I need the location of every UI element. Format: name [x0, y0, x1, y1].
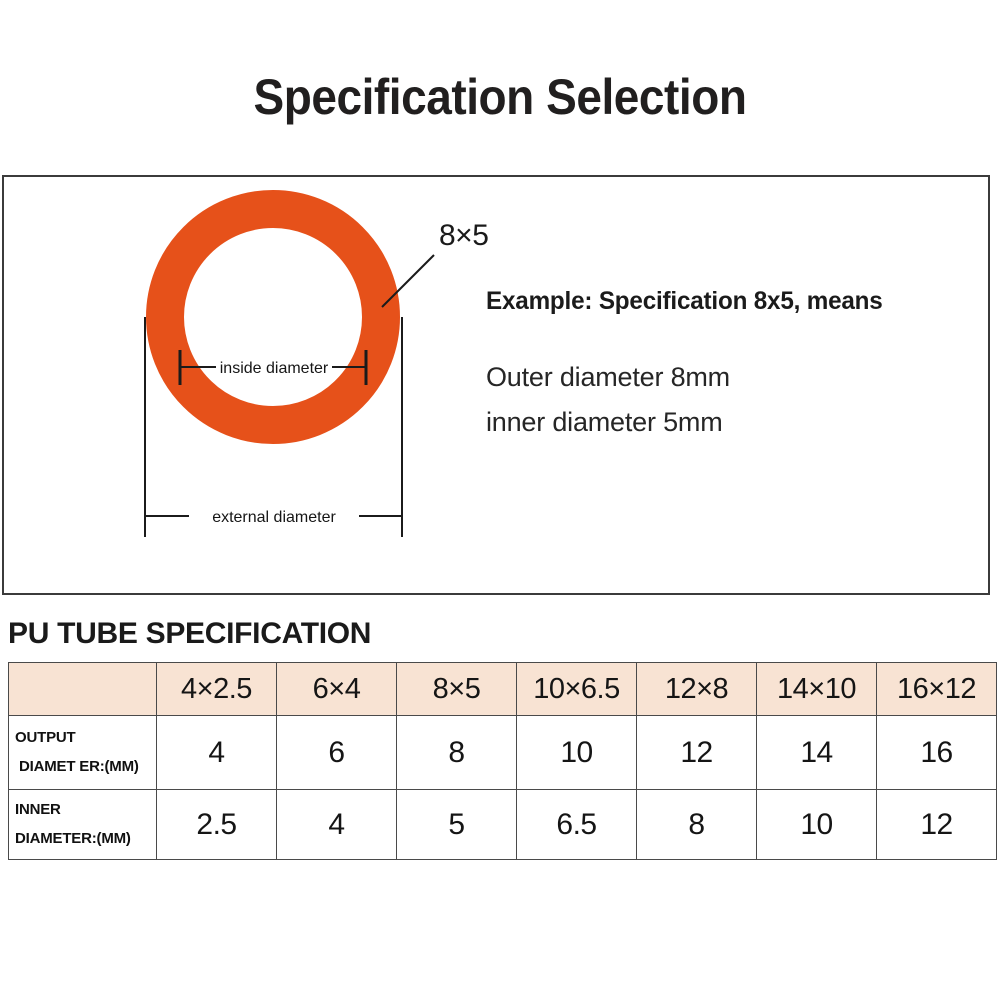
table-cell: 2.5 — [157, 790, 277, 860]
external-diameter-label: external diameter — [212, 509, 336, 526]
table-cell: 12 — [637, 716, 757, 790]
table-column-header: 4×2.5 — [157, 663, 277, 716]
inside-diameter-label: inside diameter — [220, 360, 329, 377]
row-label-line2: DIAMETER:(MM) — [15, 825, 156, 854]
table-corner-cell — [9, 663, 157, 716]
explanation-heading: Example: Specification 8x5, means — [486, 287, 966, 316]
table-row: OUTPUT DIAMET ER:(MM) 4 6 8 10 12 14 16 — [9, 716, 997, 790]
table-cell: 6.5 — [517, 790, 637, 860]
table-cell: 4 — [157, 716, 277, 790]
table-cell: 12 — [877, 790, 997, 860]
table-cell: 8 — [397, 716, 517, 790]
callout-label: 8×5 — [439, 219, 488, 252]
table-heading: PU TUBE SPECIFICATION — [8, 617, 371, 651]
explanation-outer-diameter: Outer diameter 8mm — [486, 362, 981, 393]
table-cell: 4 — [277, 790, 397, 860]
pu-tube-specification-table: 4×2.5 6×4 8×5 10×6.5 12×8 14×10 16×12 OU… — [8, 662, 997, 860]
table-cell: 8 — [637, 790, 757, 860]
table-cell: 5 — [397, 790, 517, 860]
diagram-panel: 8×5 inside diameter external diameter Ex… — [2, 175, 990, 595]
table-body: OUTPUT DIAMET ER:(MM) 4 6 8 10 12 14 16 … — [9, 716, 997, 860]
page-title: Specification Selection — [40, 68, 960, 126]
table-cell: 16 — [877, 716, 997, 790]
row-label-inner-diameter: INNER DIAMETER:(MM) — [9, 790, 157, 860]
row-label-line1: INNER — [15, 796, 156, 825]
table-column-header: 10×6.5 — [517, 663, 637, 716]
table-column-header: 6×4 — [277, 663, 397, 716]
explanation-block: Example: Specification 8x5, means Outer … — [486, 287, 981, 438]
table-row: INNER DIAMETER:(MM) 2.5 4 5 6.5 8 10 12 — [9, 790, 997, 860]
row-label-output-diameter: OUTPUT DIAMET ER:(MM) — [9, 716, 157, 790]
table-cell: 6 — [277, 716, 397, 790]
table-header: 4×2.5 6×4 8×5 10×6.5 12×8 14×10 16×12 — [9, 663, 997, 716]
table-column-header: 12×8 — [637, 663, 757, 716]
row-label-line1: OUTPUT — [15, 724, 156, 753]
table-cell: 10 — [517, 716, 637, 790]
table-cell: 14 — [757, 716, 877, 790]
table-column-header: 14×10 — [757, 663, 877, 716]
explanation-inner-diameter: inner diameter 5mm — [486, 407, 981, 438]
row-label-line2: DIAMET ER:(MM) — [15, 753, 156, 782]
table-column-header: 8×5 — [397, 663, 517, 716]
table-column-header: 16×12 — [877, 663, 997, 716]
table-header-row: 4×2.5 6×4 8×5 10×6.5 12×8 14×10 16×12 — [9, 663, 997, 716]
tube-ring — [165, 209, 381, 425]
table-cell: 10 — [757, 790, 877, 860]
